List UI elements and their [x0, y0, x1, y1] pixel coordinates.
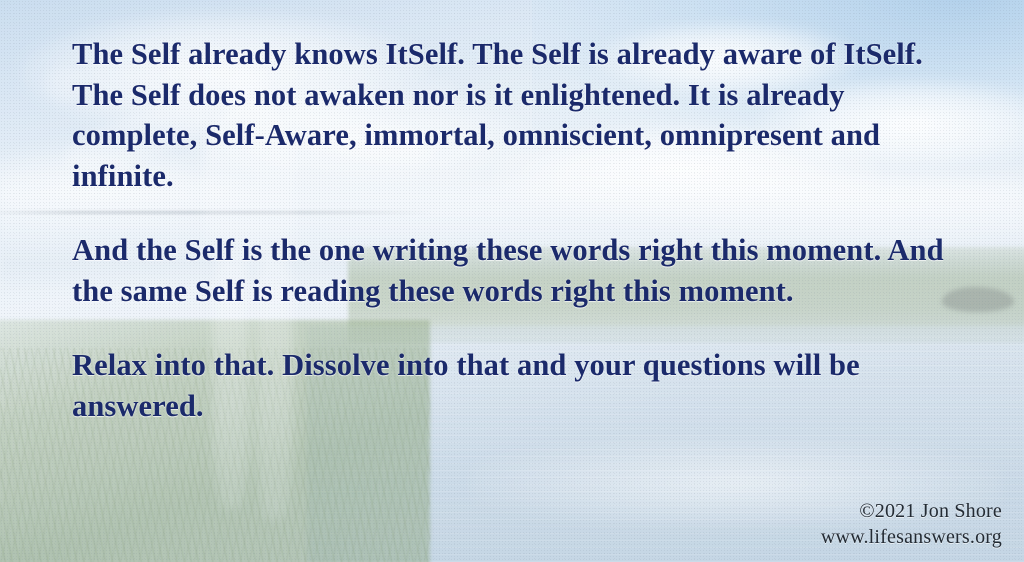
copyright-text: ©2021 Jon Shore [821, 498, 1002, 524]
website-url[interactable]: www.lifesanswers.org [821, 524, 1002, 550]
quote-text-block: The Self already knows ItSelf. The Self … [72, 34, 972, 426]
quote-paragraph-1: The Self already knows ItSelf. The Self … [72, 34, 972, 196]
credit-block: ©2021 Jon Shore www.lifesanswers.org [821, 498, 1002, 550]
quote-paragraph-3: Relax into that. Dissolve into that and … [72, 345, 972, 426]
quote-slide: The Self already knows ItSelf. The Self … [0, 0, 1024, 562]
quote-paragraph-2: And the Self is the one writing these wo… [72, 230, 972, 311]
